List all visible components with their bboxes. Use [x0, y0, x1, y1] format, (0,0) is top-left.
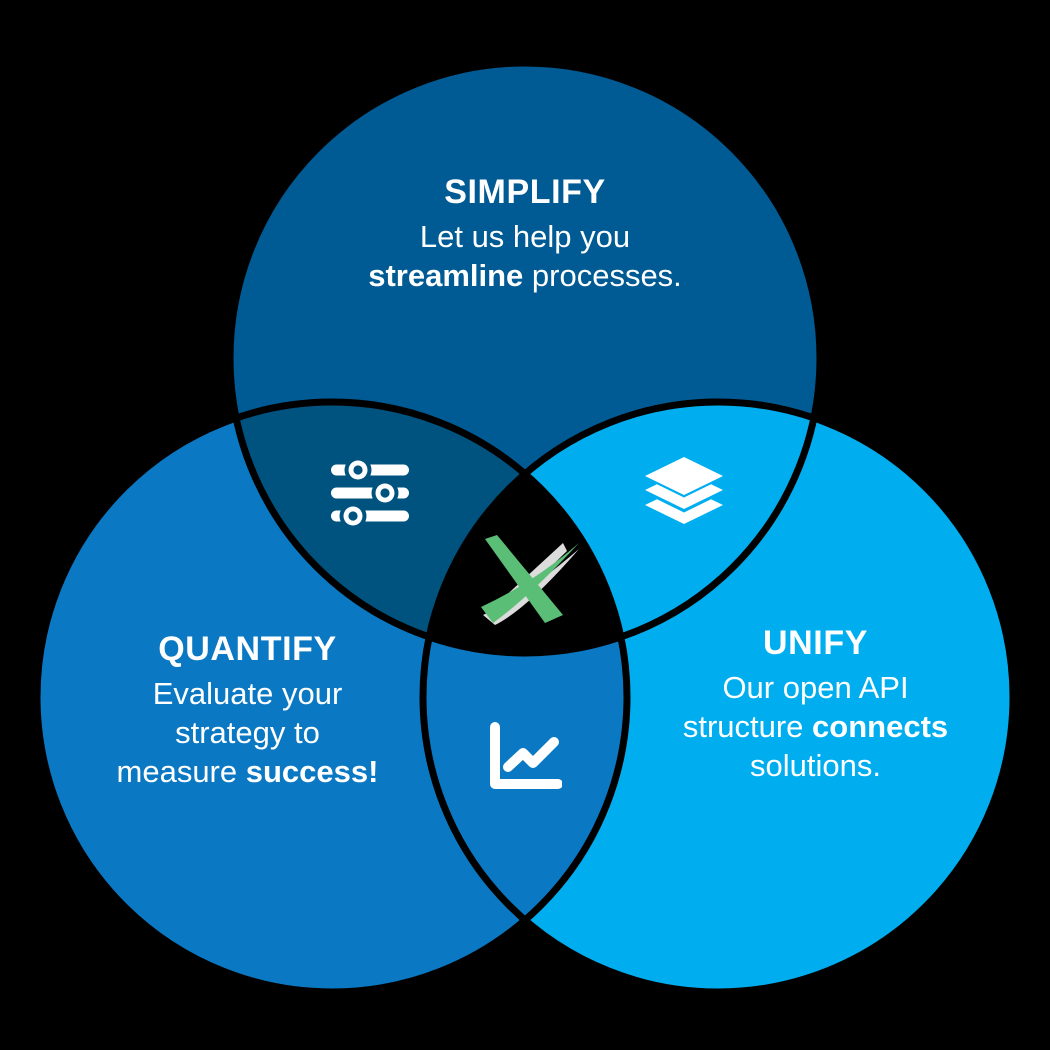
- venn-canvas: [0, 0, 1050, 1050]
- venn-diagram: SIMPLIFY Let us help you streamline proc…: [0, 0, 1050, 1050]
